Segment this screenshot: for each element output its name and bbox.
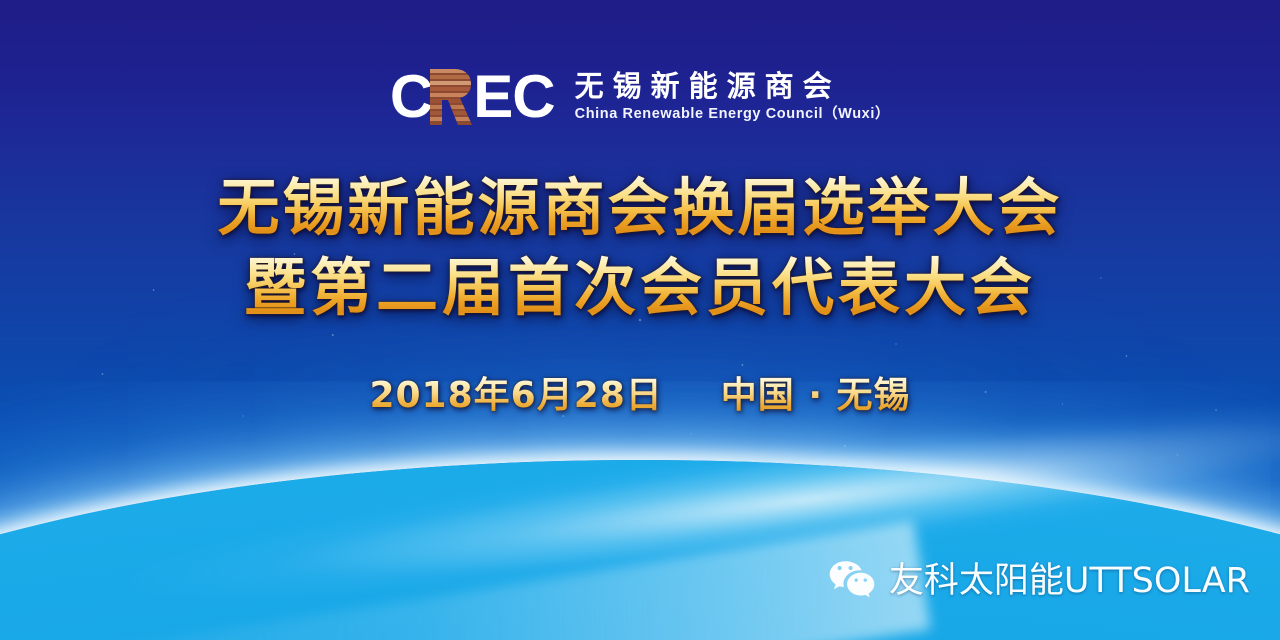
logo-letter-e: E [473,68,512,126]
crec-logo: C [0,68,1280,126]
wechat-account-name: 友科太阳能UTTSOLAR [889,564,1250,599]
logo-chinese-name: 无锡新能源商会 [575,73,890,102]
wechat-watermark: 友科太阳能UTTSOLAR [828,559,1250,604]
crec-wordmark: C [390,68,555,126]
event-location: 中国 · 无锡 [721,374,911,418]
event-title-line-1: 无锡新能源商会换届选举大会 [0,168,1280,248]
logo-letter-c2: C [512,68,554,126]
event-title-line-2: 暨第二届首次会员代表大会 [0,248,1280,328]
wechat-icon [828,559,876,604]
conference-banner: C [0,0,1280,640]
event-date: 2018年6月28日 [369,374,662,418]
logo-letter-r-striped-icon [428,69,472,125]
event-info-row: 2018年6月28日 中国 · 无锡 [0,374,1280,418]
logo-english-name: China Renewable Energy Council（Wuxi） [575,107,890,122]
logo-letter-c1: C [390,68,432,126]
event-title-block: 无锡新能源商会换届选举大会 暨第二届首次会员代表大会 [0,168,1280,328]
